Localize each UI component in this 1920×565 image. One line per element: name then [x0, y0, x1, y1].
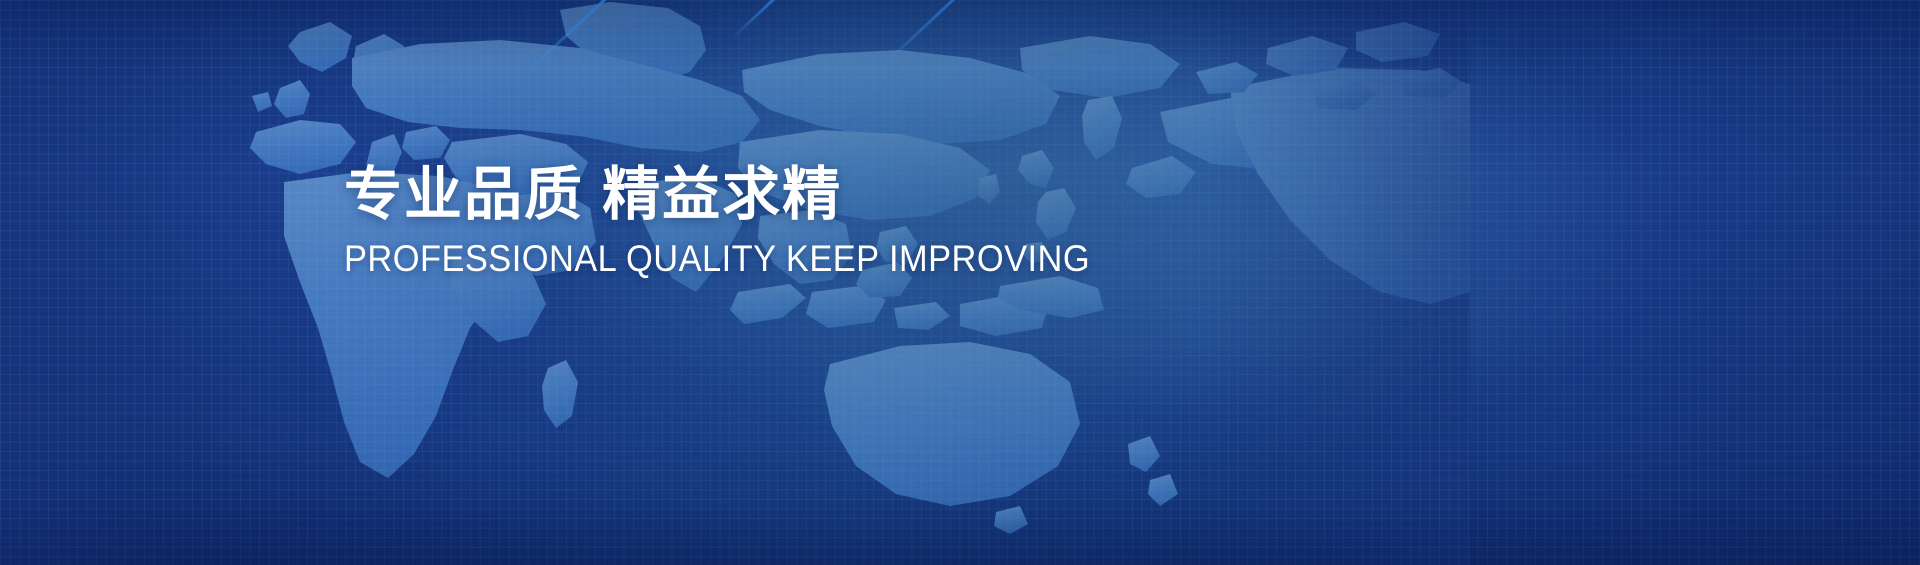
banner-subtitle: PROFESSIONAL QUALITY KEEP IMPROVING [344, 240, 1090, 277]
banner-copy: 专业品质 精益求精 PROFESSIONAL QUALITY KEEP IMPR… [344, 166, 1146, 277]
banner-headline: 专业品质 精益求精 [344, 166, 1146, 224]
hero-banner: 专业品质 精益求精 PROFESSIONAL QUALITY KEEP IMPR… [0, 0, 1920, 565]
edge-vignette [0, 0, 1920, 565]
